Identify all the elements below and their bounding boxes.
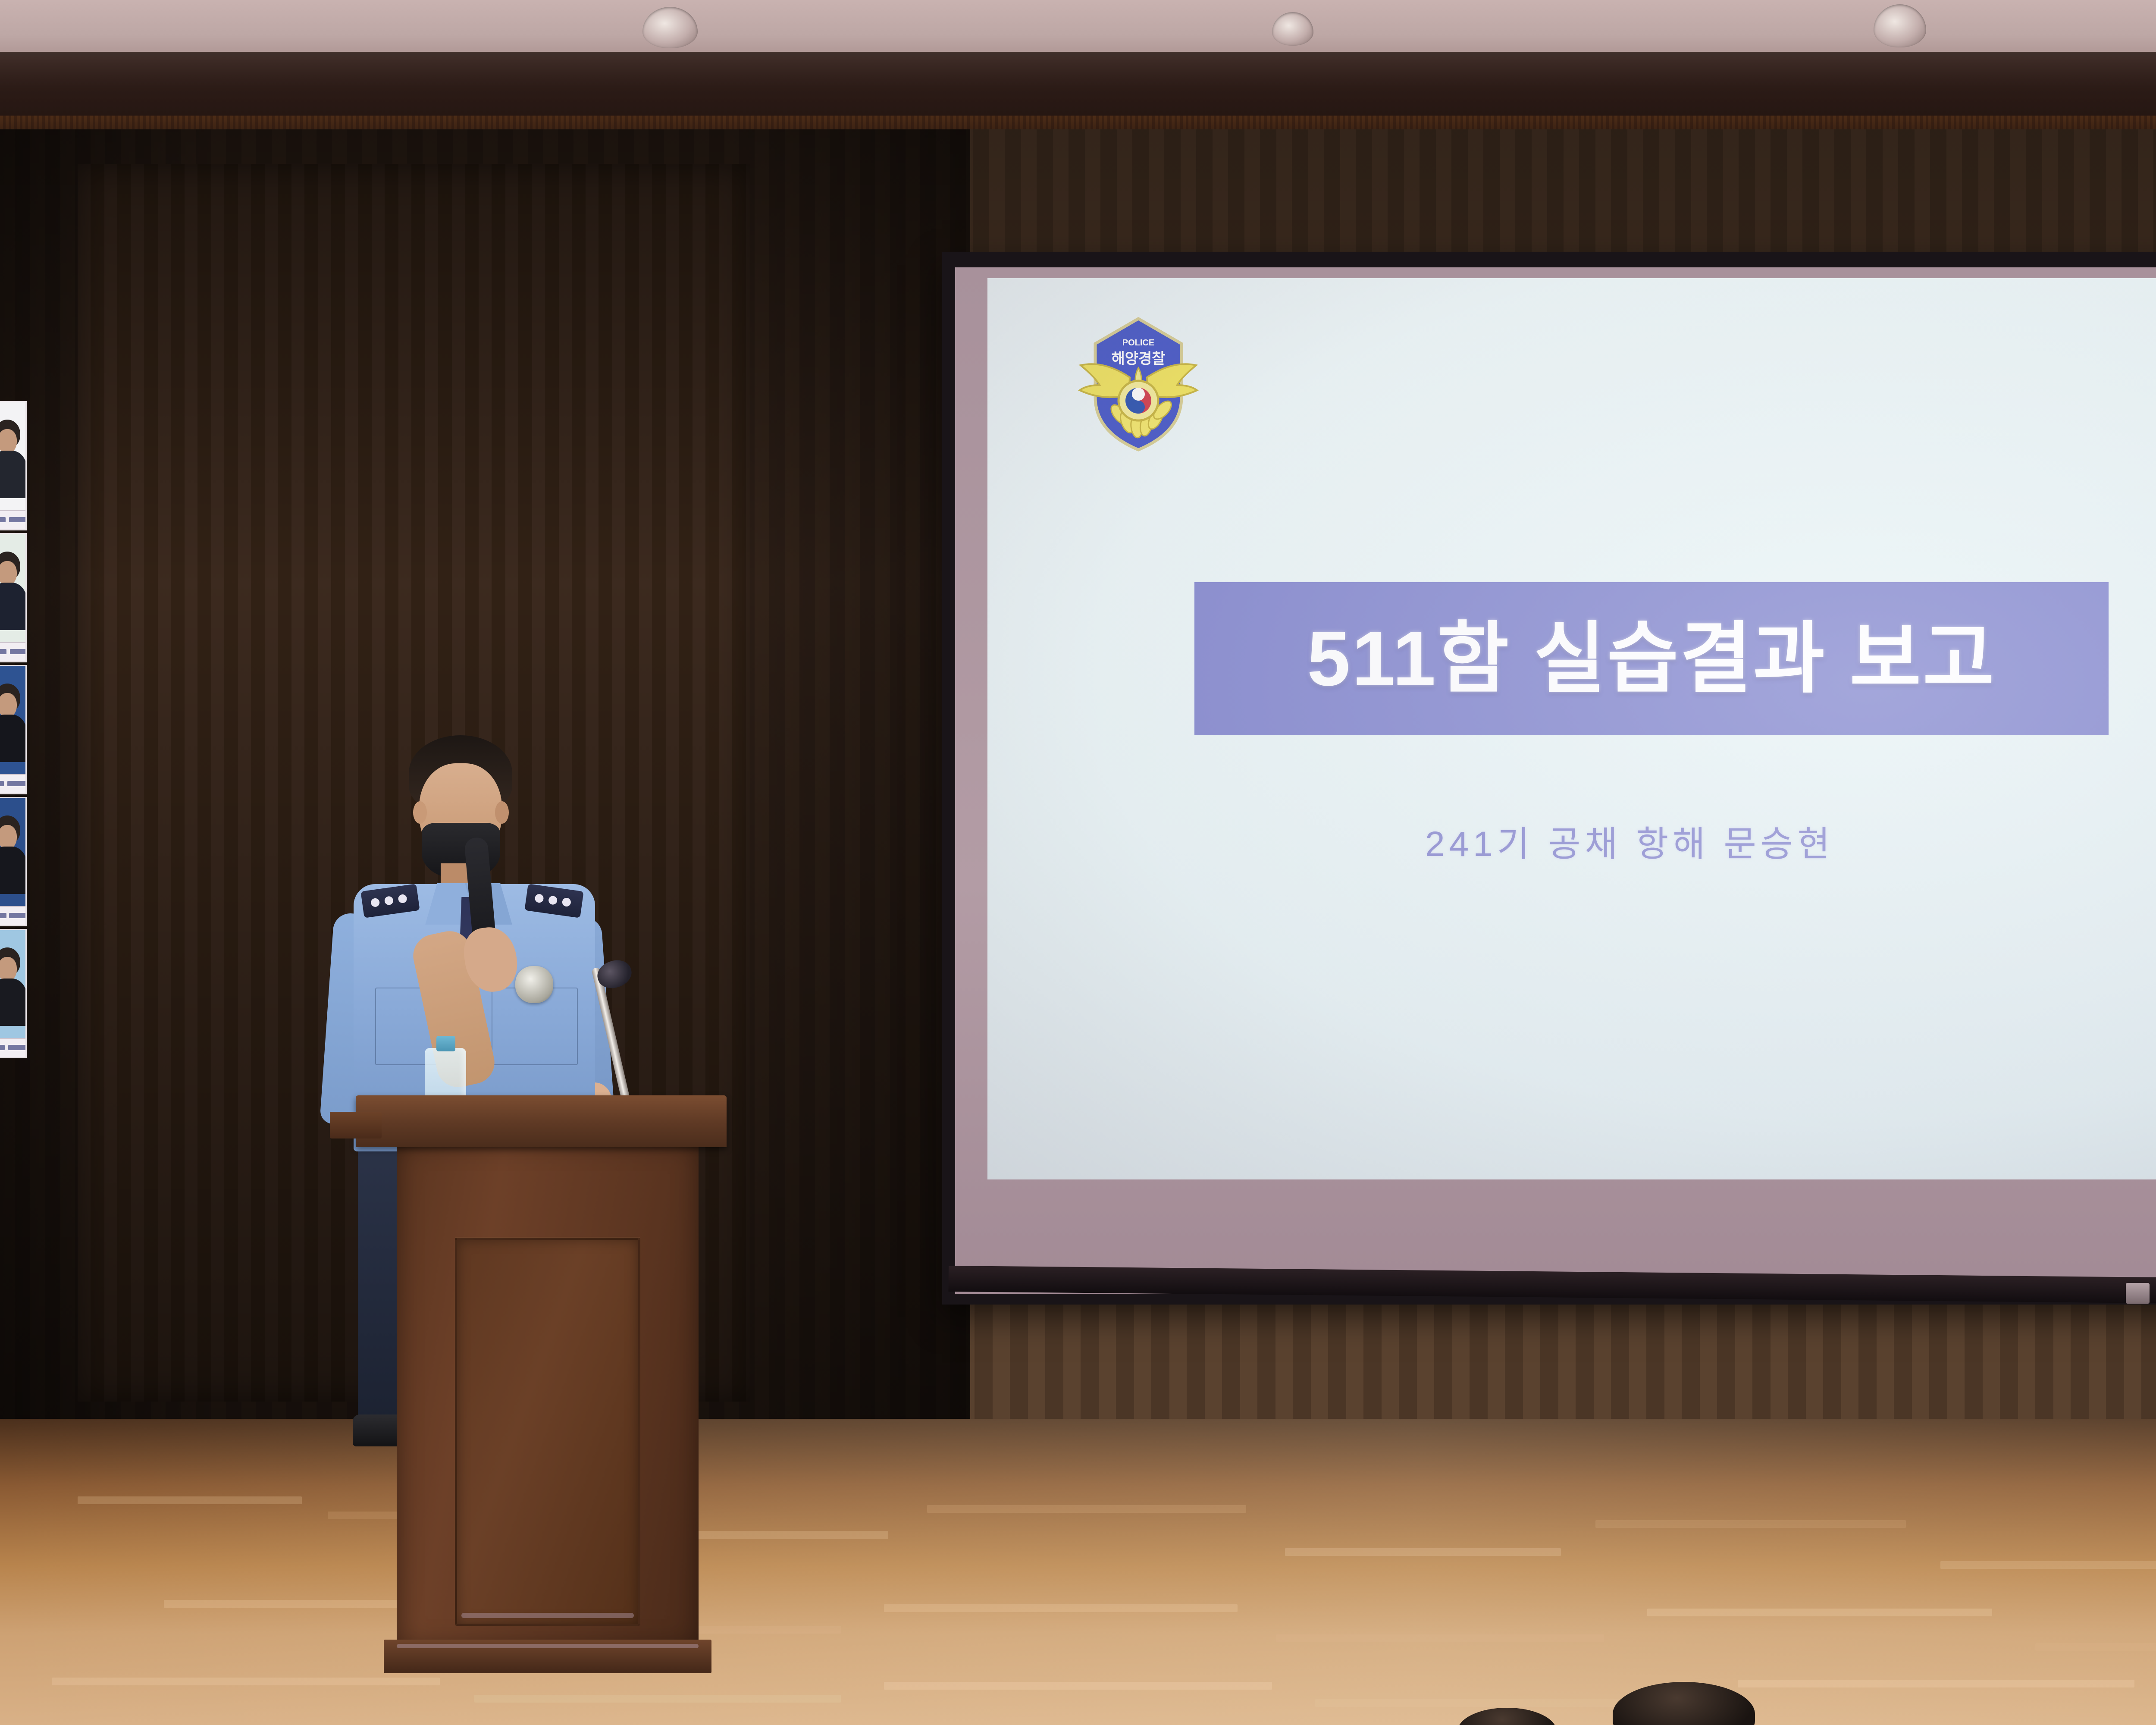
lectern	[356, 1095, 727, 1682]
lectern-front-panel	[455, 1238, 640, 1626]
photo-cell	[0, 797, 27, 926]
presenter-chest-badge	[515, 966, 553, 1003]
photo-cell	[0, 401, 27, 530]
lectern-side-lip	[330, 1112, 382, 1138]
lectern-top-surface	[356, 1095, 727, 1147]
id-photo-board	[0, 401, 43, 1156]
water-bottle-cap	[436, 1036, 455, 1051]
presenter-ear-right	[495, 801, 509, 824]
korea-coast-guard-emblem: POLICE 해양경찰	[1074, 313, 1203, 455]
slide-title-band: 511함 실습결과 보고	[1194, 582, 2109, 735]
slide-title: 511함 실습결과 보고	[1307, 620, 1996, 698]
lectern-base-highlight	[397, 1644, 699, 1648]
lectern-panel-highlight	[461, 1613, 634, 1618]
emblem-main-label: 해양경찰	[1111, 351, 1165, 367]
emblem-top-label: POLICE	[1122, 338, 1154, 348]
floor-gloss	[0, 1419, 2156, 1725]
auditorium-scene: POLICE 해양경찰 511함 실습결과 보고 241기 공채 항해 문승현 …	[0, 0, 2156, 1725]
presenter-ear-left	[413, 801, 427, 824]
slide-subtitle: 241기 공채 항해 문승현	[1425, 815, 1834, 866]
screen-roller-knob[interactable]	[2126, 1283, 2150, 1304]
ceiling-shadow	[0, 56, 2156, 134]
photo-cell	[0, 929, 27, 1058]
projected-slide: POLICE 해양경찰 511함 실습결과 보고 241기 공채 항해 문승현 …	[987, 278, 2156, 1179]
photo-cell	[0, 665, 27, 794]
photo-cell	[0, 533, 27, 662]
